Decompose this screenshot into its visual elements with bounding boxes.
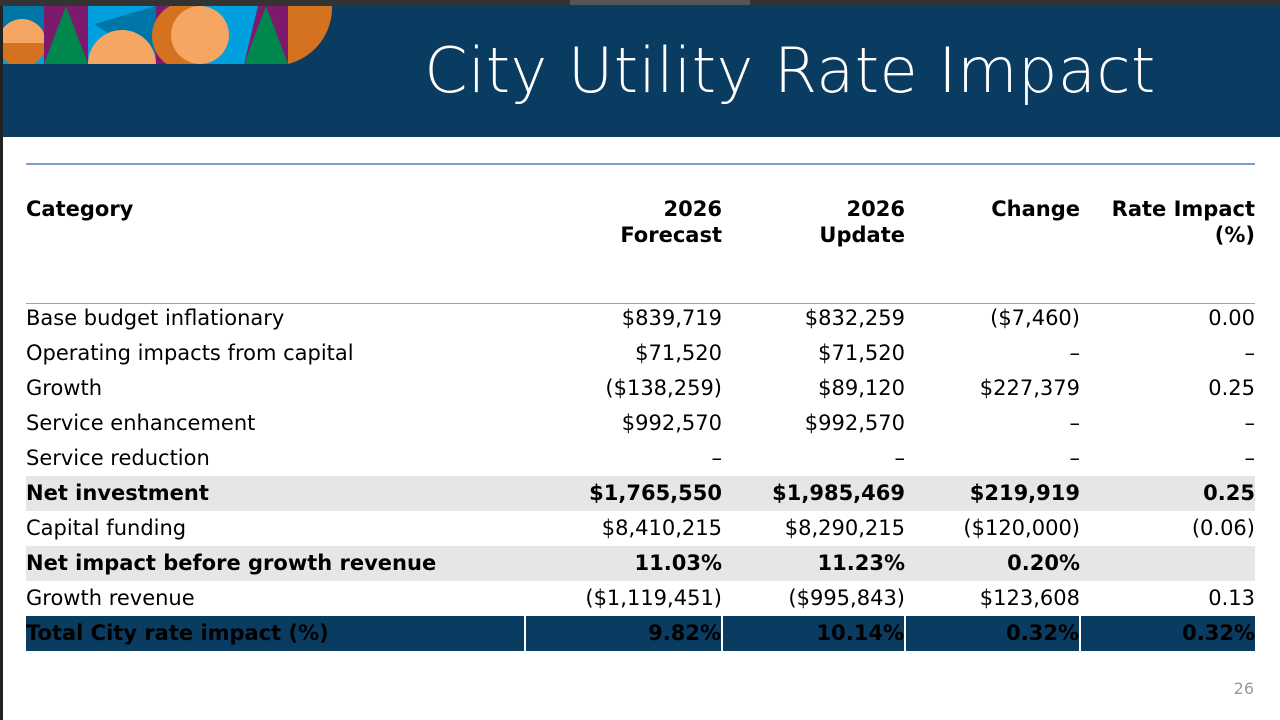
column-header-forecast-line1: 2026: [525, 196, 722, 222]
page-title: City Utility Rate Impact: [340, 34, 1240, 107]
cell-forecast: $992,570: [525, 406, 722, 441]
column-header-category: Category: [26, 196, 525, 301]
slide-left-edge: [0, 6, 3, 720]
cell-rate_impact: [1080, 546, 1255, 581]
column-header-forecast: 2026 Forecast: [525, 196, 722, 301]
table-row: Total City rate impact (%)9.82%10.14%0.3…: [26, 616, 1255, 651]
table-header-row: Category 2026 Forecast 2026 Update Chang…: [26, 196, 1255, 301]
cell-category: Operating impacts from capital: [26, 336, 525, 371]
table-row: Growth revenue($1,119,451)($995,843)$123…: [26, 581, 1255, 616]
cell-forecast: 11.03%: [525, 546, 722, 581]
cell-change: $219,919: [905, 476, 1080, 511]
viewer-chrome-bar: [0, 0, 1280, 6]
cell-update: $1,985,469: [722, 476, 905, 511]
cell-rate_impact: 0.32%: [1080, 616, 1255, 651]
cell-forecast: ($1,119,451): [525, 581, 722, 616]
table-row: Base budget inflationary$839,719$832,259…: [26, 301, 1255, 336]
cell-rate_impact: –: [1080, 336, 1255, 371]
column-header-rate-impact-line2: (%): [1080, 222, 1255, 248]
column-header-change: Change: [905, 196, 1080, 301]
column-header-update-line1: 2026: [722, 196, 905, 222]
column-header-rate-impact: Rate Impact (%): [1080, 196, 1255, 301]
cell-forecast: ($138,259): [525, 371, 722, 406]
table-row: Service enhancement$992,570$992,570––: [26, 406, 1255, 441]
cell-change: ($7,460): [905, 301, 1080, 336]
column-header-update-line2: Update: [722, 222, 905, 248]
cell-category: Net impact before growth revenue: [26, 546, 525, 581]
table-header: Category 2026 Forecast 2026 Update Chang…: [26, 196, 1255, 301]
table-row: Net impact before growth revenue11.03%11…: [26, 546, 1255, 581]
cell-rate_impact: –: [1080, 441, 1255, 476]
cell-forecast: $8,410,215: [525, 511, 722, 546]
cell-change: –: [905, 441, 1080, 476]
cell-category: Capital funding: [26, 511, 525, 546]
page-number: 26: [1234, 679, 1254, 698]
table-body: Base budget inflationary$839,719$832,259…: [26, 301, 1255, 651]
header-divider-rule: [26, 303, 1255, 304]
cell-update: 10.14%: [722, 616, 905, 651]
cell-rate_impact: 0.00: [1080, 301, 1255, 336]
cell-category: Net investment: [26, 476, 525, 511]
cell-change: 0.32%: [905, 616, 1080, 651]
cell-category: Growth: [26, 371, 525, 406]
cell-rate_impact: 0.25: [1080, 476, 1255, 511]
cell-change: $123,608: [905, 581, 1080, 616]
cell-change: 0.20%: [905, 546, 1080, 581]
column-header-forecast-line2: Forecast: [525, 222, 722, 248]
top-divider-rule: [26, 163, 1255, 165]
cell-update: –: [722, 441, 905, 476]
cell-category: Base budget inflationary: [26, 301, 525, 336]
cell-change: $227,379: [905, 371, 1080, 406]
cell-rate_impact: 0.25: [1080, 371, 1255, 406]
column-header-rate-impact-line1: Rate Impact: [1080, 196, 1255, 222]
cell-category: Service enhancement: [26, 406, 525, 441]
cell-forecast: $839,719: [525, 301, 722, 336]
slide-header-banner: City Utility Rate Impact: [0, 6, 1280, 137]
cell-update: $89,120: [722, 371, 905, 406]
cell-forecast: $71,520: [525, 336, 722, 371]
table-row: Growth($138,259)$89,120$227,3790.25: [26, 371, 1255, 406]
cell-change: –: [905, 406, 1080, 441]
cell-update: 11.23%: [722, 546, 905, 581]
table-row: Operating impacts from capital$71,520$71…: [26, 336, 1255, 371]
cell-update: $8,290,215: [722, 511, 905, 546]
cell-update: $71,520: [722, 336, 905, 371]
cell-rate_impact: –: [1080, 406, 1255, 441]
cell-update: $992,570: [722, 406, 905, 441]
table-row: Net investment$1,765,550$1,985,469$219,9…: [26, 476, 1255, 511]
cell-change: –: [905, 336, 1080, 371]
cell-update: $832,259: [722, 301, 905, 336]
cell-category: Total City rate impact (%): [26, 616, 525, 651]
viewer-scrollbar-thumb[interactable]: [570, 0, 750, 5]
cell-forecast: $1,765,550: [525, 476, 722, 511]
cell-forecast: 9.82%: [525, 616, 722, 651]
geometric-mosaic-banner-icon: [0, 6, 332, 64]
cell-rate_impact: (0.06): [1080, 511, 1255, 546]
cell-change: ($120,000): [905, 511, 1080, 546]
table-row: Service reduction––––: [26, 441, 1255, 476]
slide-canvas: City Utility Rate Impact Category 2026 F…: [0, 6, 1280, 720]
column-header-change-line1: Change: [905, 196, 1080, 222]
column-header-update: 2026 Update: [722, 196, 905, 301]
rate-impact-table: Category 2026 Forecast 2026 Update Chang…: [26, 196, 1255, 651]
cell-forecast: –: [525, 441, 722, 476]
cell-category: Service reduction: [26, 441, 525, 476]
cell-category: Growth revenue: [26, 581, 525, 616]
cell-rate_impact: 0.13: [1080, 581, 1255, 616]
table-row: Capital funding$8,410,215$8,290,215($120…: [26, 511, 1255, 546]
cell-update: ($995,843): [722, 581, 905, 616]
